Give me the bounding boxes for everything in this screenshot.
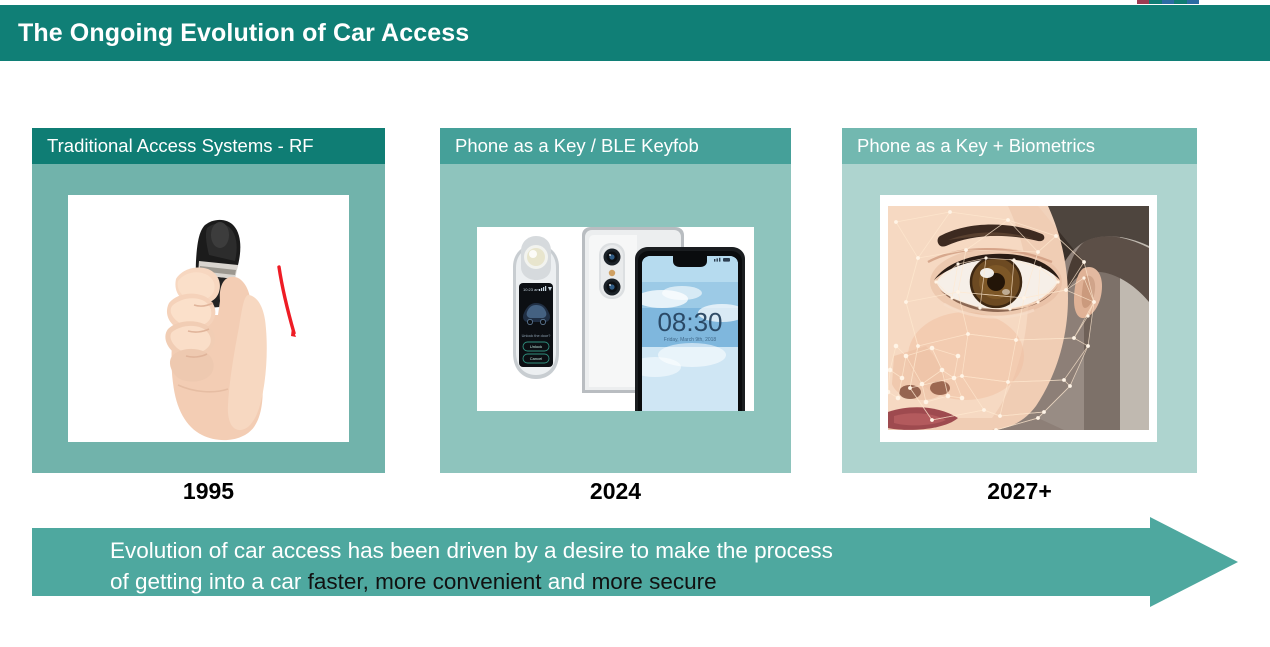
svg-text:Unlock: Unlock xyxy=(530,344,542,349)
logo-stripe-5 xyxy=(1187,0,1199,4)
rf-keyfob-hand-illustration xyxy=(68,195,349,442)
summary-arrow-banner: Evolution of car access has been driven … xyxy=(32,517,1238,607)
page-title: The Ongoing Evolution of Car Access xyxy=(0,19,469,48)
facial-recognition-photo-frame xyxy=(880,195,1157,442)
facial-recognition-biometric-mesh-photo xyxy=(888,206,1149,430)
card-header-traditional-rf: Traditional Access Systems - RF xyxy=(32,128,385,164)
evolution-card-traditional-rf: Traditional Access Systems - RF xyxy=(32,128,385,473)
logo-stripe-1 xyxy=(1137,0,1149,4)
logo-stripe-3 xyxy=(1162,0,1174,4)
svg-text:Unlock the door?: Unlock the door? xyxy=(522,334,551,338)
evolution-card-phone-as-key-ble: Phone as a Key / BLE Keyfob xyxy=(440,128,791,473)
card-body-phone-as-key-ble: 10:23 am xyxy=(440,164,791,473)
logo-stripe-2 xyxy=(1149,0,1161,4)
hand-holding-rf-keyfob-photo xyxy=(68,195,349,442)
svg-text:Friday, March 9th, 2018: Friday, March 9th, 2018 xyxy=(664,337,717,343)
card-body-phone-as-key-biometrics xyxy=(842,164,1197,473)
year-label-2027-plus: 2027+ xyxy=(842,478,1197,505)
summary-line-1: Evolution of car access has been driven … xyxy=(110,535,1100,566)
summary-text: Evolution of car access has been driven … xyxy=(110,535,1100,597)
card-header-label: Phone as a Key / BLE Keyfob xyxy=(440,135,699,157)
summary-line2-prefix: of getting into a car xyxy=(110,569,308,594)
face-mesh-illustration xyxy=(888,206,1149,430)
svg-text:Cancel: Cancel xyxy=(530,356,543,361)
year-label-2024: 2024 xyxy=(440,478,791,505)
card-header-label: Traditional Access Systems - RF xyxy=(32,135,314,157)
evolution-card-phone-as-key-biometrics: Phone as a Key + Biometrics xyxy=(842,128,1197,473)
year-label-1995: 1995 xyxy=(32,478,385,505)
slide-title-banner: The Ongoing Evolution of Car Access xyxy=(0,5,1270,61)
summary-line2-middle: and xyxy=(542,569,592,594)
summary-line-2: of getting into a car faster, more conve… xyxy=(110,566,1100,597)
keyfob-and-phones-illustration: 10:23 am xyxy=(477,227,754,411)
card-header-phone-as-key-biometrics: Phone as a Key + Biometrics xyxy=(842,128,1197,164)
summary-highlight-faster-convenient: faster, more convenient xyxy=(308,569,542,594)
summary-highlight-more-secure: more secure xyxy=(592,569,717,594)
svg-text:10:23 am: 10:23 am xyxy=(523,287,540,292)
svg-text:08:30: 08:30 xyxy=(657,307,722,337)
ble-keyfob-and-smartphones-photo: 10:23 am xyxy=(477,227,754,411)
logo-stripe-4 xyxy=(1174,0,1186,4)
card-header-phone-as-key-ble: Phone as a Key / BLE Keyfob xyxy=(440,128,791,164)
partial-logo-sliver xyxy=(1137,0,1199,4)
card-body-traditional-rf xyxy=(32,164,385,473)
card-header-label: Phone as a Key + Biometrics xyxy=(842,135,1095,157)
